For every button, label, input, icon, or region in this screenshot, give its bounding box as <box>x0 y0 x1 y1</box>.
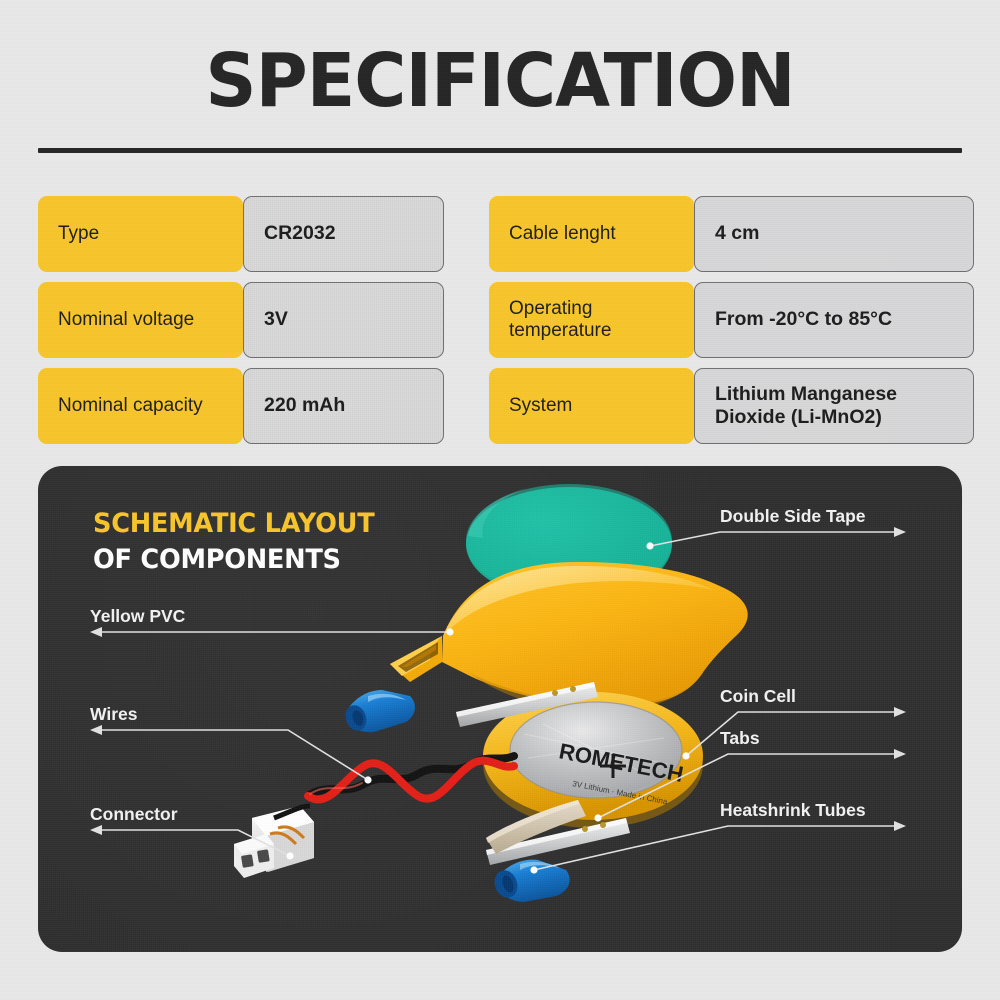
spec-value-nominal-voltage: 3V <box>243 282 444 358</box>
arrow-connector <box>90 825 102 835</box>
spec-key-type: Type <box>38 196 243 272</box>
callout-label-connector: Connector <box>90 804 178 825</box>
arrow-coin-cell <box>894 707 906 717</box>
spec-key-cable-length: Cable lenght <box>489 196 694 272</box>
spec-key-nominal-voltage: Nominal voltage <box>38 282 243 358</box>
callout-label-double-side-tape: Double Side Tape <box>720 506 866 527</box>
callout-label-yellow-pvc: Yellow PVC <box>90 606 185 627</box>
column-gap <box>444 196 489 272</box>
leader-dot-yellow-pvc <box>446 628 453 635</box>
title-divider <box>38 148 962 153</box>
page-title: SPECIFICATION <box>20 44 980 118</box>
leader-dot-heatshrink <box>530 866 537 873</box>
callout-label-heatshrink-tubes: Heatshrink Tubes <box>720 800 866 821</box>
arrow-heatshrink <box>894 821 906 831</box>
leader-dot-connector <box>286 852 293 859</box>
column-gap <box>444 282 489 358</box>
arrow-wires <box>90 725 102 735</box>
spec-value-nominal-capacity: 220 mAh <box>243 368 444 444</box>
specification-table: Type CR2032 Cable lenght 4 cm Nominal vo… <box>38 196 962 444</box>
callout-label-tabs: Tabs <box>720 728 760 749</box>
column-gap <box>444 368 489 444</box>
schematic-panel: SCHEMATIC LAYOUT OF COMPONENTS <box>38 466 962 952</box>
arrow-double-side-tape <box>894 527 906 537</box>
spec-value-type: CR2032 <box>243 196 444 272</box>
spec-value-cable-length: 4 cm <box>694 196 974 272</box>
leader-dot-double-side-tape <box>646 542 653 549</box>
schematic-panel-content: SCHEMATIC LAYOUT OF COMPONENTS <box>38 466 962 952</box>
callout-label-wires: Wires <box>90 704 138 725</box>
callout-leader-lines <box>38 466 962 952</box>
spec-key-nominal-capacity: Nominal capacity <box>38 368 243 444</box>
leader-dot-coin-cell <box>682 752 689 759</box>
leader-dot-tabs <box>594 814 601 821</box>
arrow-tabs <box>894 749 906 759</box>
arrow-yellow-pvc <box>90 627 102 637</box>
spec-value-operating-temperature: From -20°C to 85°C <box>694 282 974 358</box>
leader-dot-wires <box>364 776 371 783</box>
callout-label-coin-cell: Coin Cell <box>720 686 796 707</box>
infographic-page: SPECIFICATION Type CR2032 Cable lenght 4… <box>0 0 1000 1000</box>
spec-key-system: System <box>489 368 694 444</box>
spec-value-system: Lithium Manganese Dioxide (Li-MnO2) <box>694 368 974 444</box>
spec-key-operating-temperature: Operating temperature <box>489 282 694 358</box>
